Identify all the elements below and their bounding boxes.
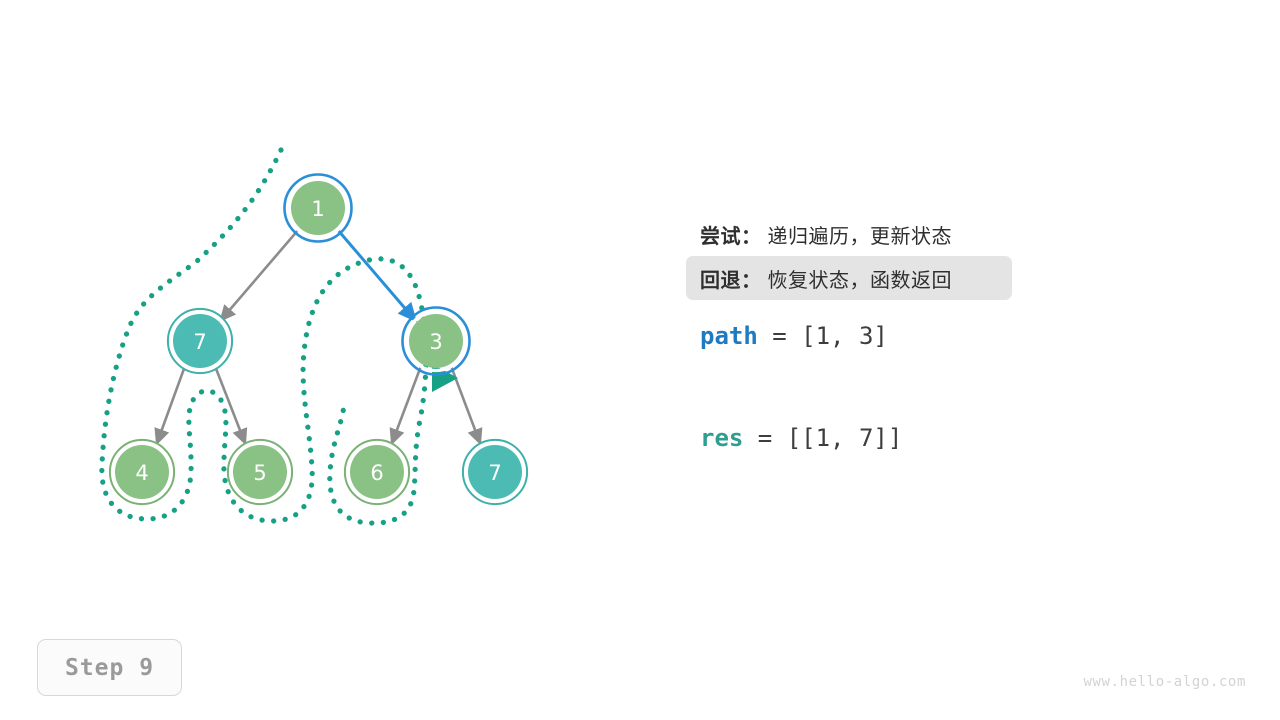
tree-node-label: 1 (311, 197, 324, 221)
code-variable-name: res (700, 424, 743, 452)
description-value: 递归遍历，更新状态 (768, 220, 953, 249)
description-key: 回退： (700, 264, 762, 293)
tree-node-label: 7 (193, 330, 206, 354)
edge-7-5 (215, 366, 245, 443)
code-line-path: path = [1, 3] (686, 314, 1106, 358)
description-key: 尝试： (700, 220, 762, 249)
code-variable-value: = [[1, 7]] (743, 424, 902, 452)
tree-node-4[interactable]: 4 (110, 440, 174, 504)
edge-1-7 (221, 229, 299, 320)
tree-node-3[interactable]: 3 (403, 308, 470, 375)
tree-node-label: 3 (429, 330, 442, 354)
edge-1-3 (337, 229, 415, 320)
tree-node-label: 5 (253, 461, 266, 485)
edge-3-6 (392, 366, 421, 443)
tree-node-label: 6 (370, 461, 383, 485)
tree-node-5[interactable]: 5 (228, 440, 292, 504)
watermark: www.hello-algo.com (1083, 674, 1246, 690)
step-badge: Step 9 (37, 639, 182, 696)
code-variable-value: = [1, 3] (758, 322, 888, 350)
animation-stage: 1 7 3 4 (0, 0, 1280, 720)
tree-node-6[interactable]: 6 (345, 440, 409, 504)
tree-nodes: 1 7 3 4 (110, 175, 527, 505)
edge-7-4 (157, 366, 185, 443)
description-row-backtrack: 回退： 恢复状态，函数返回 (686, 256, 1012, 300)
description-row-try: 尝试： 递归遍历，更新状态 (686, 212, 1012, 256)
code-variable-name: path (700, 322, 758, 350)
tree-node-7-left[interactable]: 7 (168, 309, 232, 373)
tree-node-1[interactable]: 1 (285, 175, 352, 242)
binary-tree-diagram: 1 7 3 4 (0, 0, 660, 620)
tree-node-label: 4 (135, 461, 148, 485)
info-panel: 尝试： 递归遍历，更新状态 回退： 恢复状态，函数返回 path = [1, 3… (686, 212, 1106, 460)
code-line-res: res = [[1, 7]] (686, 416, 1106, 460)
tree-node-label: 7 (488, 461, 501, 485)
description-value: 恢复状态，函数返回 (768, 264, 953, 293)
tree-node-7-right[interactable]: 7 (463, 440, 527, 504)
